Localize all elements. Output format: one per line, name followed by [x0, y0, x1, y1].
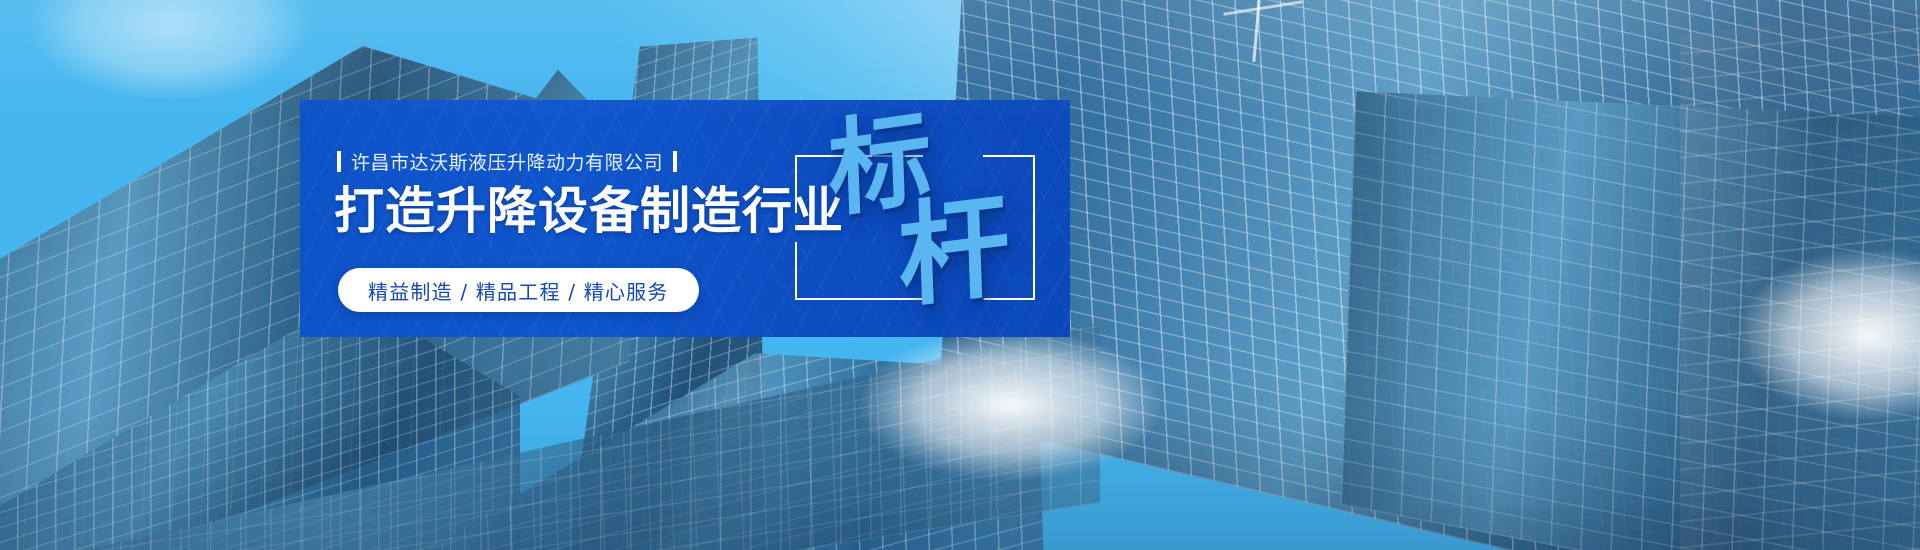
company-name-line: 许昌市达沃斯液压升降动力有限公司 [337, 148, 677, 174]
hero-banner: 许昌市达沃斯液压升降动力有限公司 打造升降设备制造行业 精益制造 / 精品工程 … [0, 0, 1920, 550]
slogan-text: 精益制造 / 精品工程 / 精心服务 [368, 276, 669, 305]
eyebrow-bar-right [673, 151, 677, 172]
headline-text: 打造升降设备制造行业 [334, 186, 844, 236]
eyebrow-bar-left [337, 151, 341, 172]
glass-tower-right-edge [1680, 5, 1920, 550]
headline-panel: 许昌市达沃斯液压升降动力有限公司 打造升降设备制造行业 精益制造 / 精品工程 … [300, 100, 1070, 337]
company-name-text: 许昌市达沃斯液压升降动力有限公司 [351, 148, 663, 175]
slogan-pill[interactable]: 精益制造 / 精品工程 / 精心服务 [338, 268, 699, 312]
